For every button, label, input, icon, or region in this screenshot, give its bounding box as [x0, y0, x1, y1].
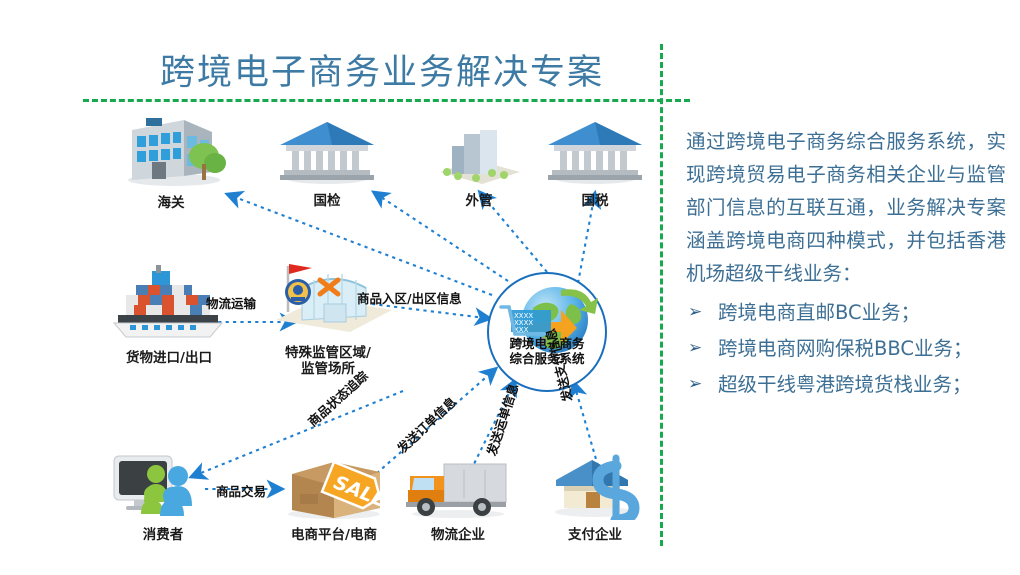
node-payment[interactable]: 支付企业 [540, 450, 650, 543]
horizontal-divider [83, 99, 690, 102]
node-tax[interactable]: 国税 [540, 118, 650, 209]
node-logistics[interactable]: 物流企业 [400, 452, 516, 543]
arrow-bullet-icon: ➢ [688, 296, 702, 329]
arrow-bullet-icon: ➢ [688, 368, 702, 401]
house-dollar-icon [540, 450, 650, 525]
node-label: 国检 [272, 193, 382, 209]
node-label: 海关 [112, 195, 230, 211]
list-item-label: 跨境电商直邮BC业务； [718, 301, 920, 324]
edge-label-trade: 商品交易 [216, 481, 266, 500]
node-customs[interactable]: 海关 [112, 110, 230, 211]
list-item: ➢ 跨境电商网购保税BBC业务； [686, 332, 1006, 365]
city-towers-icon [430, 128, 528, 191]
list-item: ➢ 跨境电商直邮BC业务； [686, 296, 1006, 329]
node-label: 支付企业 [540, 527, 650, 543]
edge-label-waybill-info: 发送运单信息 [481, 381, 522, 458]
node-label: 国税 [540, 193, 650, 209]
arrow-bullet-icon: ➢ [688, 332, 702, 365]
edge-label-transport: 物流运输 [206, 293, 256, 312]
vertical-divider [660, 44, 663, 546]
node-ec-platform[interactable]: SALE 电商平台/电商 [270, 452, 398, 543]
delivery-truck-icon [400, 452, 516, 525]
feature-list: ➢ 跨境电商直邮BC业务； ➢ 跨境电商网购保税BBC业务； ➢ 超级干线粤港跨… [686, 296, 1006, 401]
list-item-label: 超级干线粤港跨境货栈业务； [718, 373, 972, 396]
classical-building-icon [540, 118, 650, 191]
sale-box-icon: SALE [270, 452, 398, 525]
slide-canvas: 跨境电子商务业务解决专案 [0, 0, 1020, 575]
edge-label-order-info: 发送订单信息 [392, 392, 460, 457]
node-consumer[interactable]: 消费者 [108, 450, 218, 543]
node-label: 外管 [430, 193, 528, 209]
edge-label-zone-info: 商品入区/出区信息 [357, 288, 462, 307]
classical-building-icon [272, 118, 382, 191]
list-item: ➢ 超级干线粤港跨境货栈业务； [686, 368, 1006, 401]
node-label: 物流企业 [400, 527, 516, 543]
list-item-label: 跨境电商网购保税BBC业务； [718, 337, 973, 360]
node-cargo[interactable]: 货物进口/出口 [104, 265, 234, 366]
node-label: 特殊监管区域/ [258, 345, 398, 361]
page-title: 跨境电子商务业务解决专案 [160, 44, 604, 95]
description-paragraph: 通过跨境电子商务综合服务系统，实现跨境贸易电子商务相关企业与监管部门信息的互联互… [686, 125, 1006, 290]
description-panel: 通过跨境电子商务综合服务系统，实现跨境贸易电子商务相关企业与监管部门信息的互联互… [686, 125, 1006, 404]
node-label: 消费者 [108, 527, 218, 543]
monitor-people-icon [108, 450, 218, 525]
node-label: 电商平台/电商 [270, 527, 398, 543]
node-supervision[interactable]: 特殊监管区域/ 监管场所 [258, 258, 398, 377]
office-building-icon [112, 110, 230, 193]
node-label: 货物进口/出口 [104, 350, 234, 366]
node-forex[interactable]: 外管 [430, 128, 528, 209]
node-inspection[interactable]: 国检 [272, 118, 382, 209]
node-label-2: 监管场所 [258, 361, 398, 377]
